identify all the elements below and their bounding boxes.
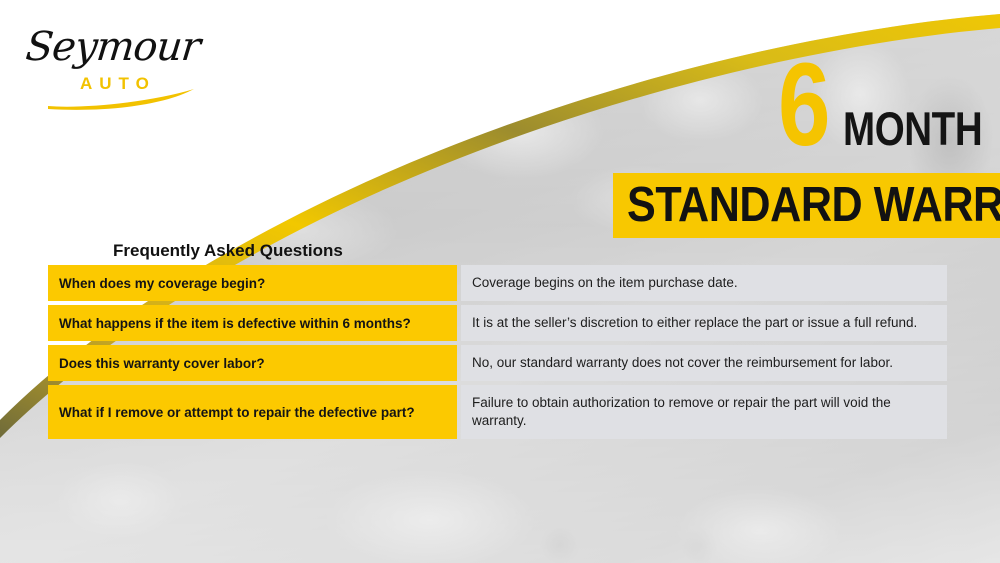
faq-question: Does this warranty cover labor? bbox=[48, 345, 457, 381]
faq-question: When does my coverage begin? bbox=[48, 265, 457, 301]
faq-answer: Failure to obtain authorization to remov… bbox=[461, 385, 947, 439]
logo-swoosh-icon bbox=[48, 88, 196, 110]
faq-answer: It is at the seller’s discretion to eith… bbox=[461, 305, 947, 341]
table-row: When does my coverage begin? Coverage be… bbox=[48, 265, 947, 301]
faq-table: When does my coverage begin? Coverage be… bbox=[44, 261, 951, 443]
logo-wordmark: Seymour bbox=[24, 24, 202, 70]
seymour-auto-logo: Seymour AUTO bbox=[22, 22, 202, 107]
standard-warranty-banner-text: STANDARD WARRANTY bbox=[627, 181, 1000, 230]
warranty-duration-number: 6 bbox=[778, 46, 828, 164]
faq-question: What if I remove or attempt to repair th… bbox=[48, 385, 457, 439]
faq-answer: Coverage begins on the item purchase dat… bbox=[461, 265, 947, 301]
warranty-slide: Seymour AUTO 6 MONTH STANDARD WARRANTY F… bbox=[0, 0, 1000, 563]
faq-question: What happens if the item is defective wi… bbox=[48, 305, 457, 341]
page-title: Frequently Asked Questions bbox=[113, 241, 343, 261]
table-row: What if I remove or attempt to repair th… bbox=[48, 385, 947, 439]
faq-answer: No, our standard warranty does not cover… bbox=[461, 345, 947, 381]
table-row: Does this warranty cover labor? No, our … bbox=[48, 345, 947, 381]
table-row: What happens if the item is defective wi… bbox=[48, 305, 947, 341]
warranty-duration-unit: MONTH bbox=[843, 105, 982, 152]
standard-warranty-banner: STANDARD WARRANTY bbox=[613, 173, 1000, 238]
